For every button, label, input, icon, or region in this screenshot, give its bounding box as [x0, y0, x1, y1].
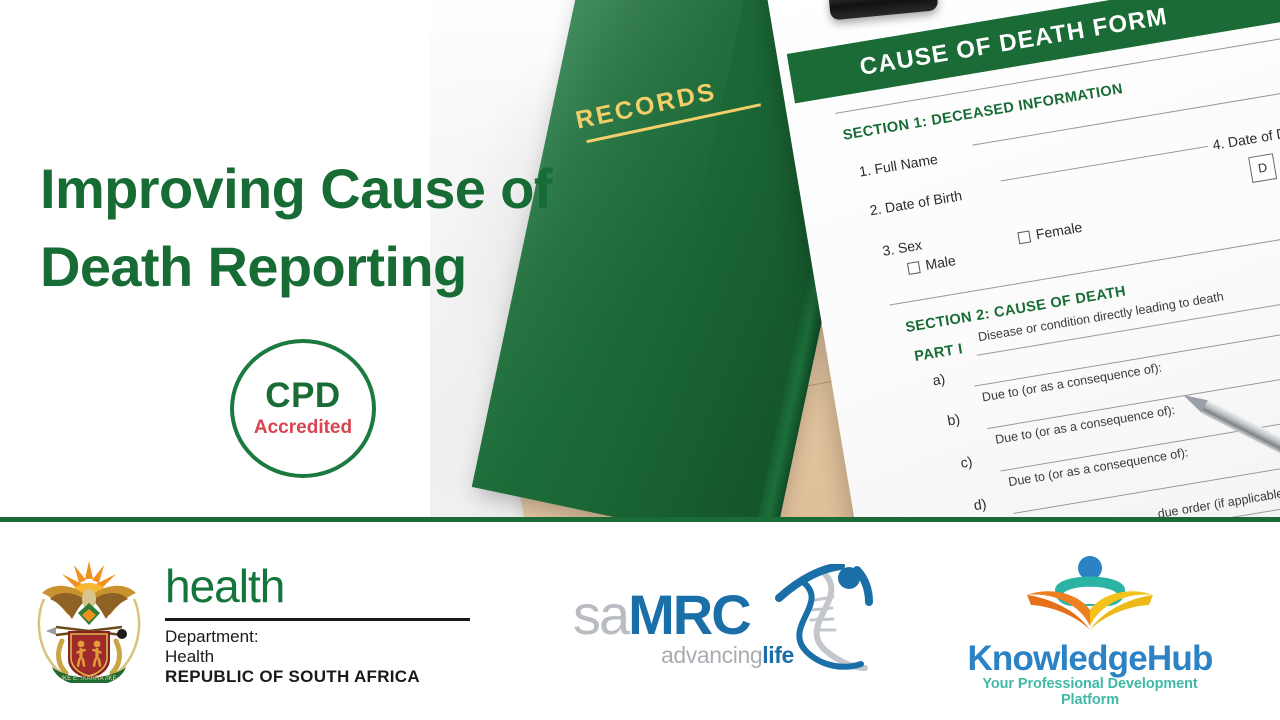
form-consequence-c: Due to (or as a consequence of):	[994, 403, 1176, 447]
form-field-date-of-death: 4. Date of Death	[1211, 120, 1280, 153]
cpd-badge-title: CPD	[265, 377, 340, 415]
label-male: Male	[924, 252, 957, 273]
title-line-2: Death Reporting	[40, 228, 620, 306]
samrc-prefix: sa	[573, 583, 628, 646]
checkbox-male[interactable]	[907, 261, 921, 275]
form-field-date-of-birth: 2. Date of Birth	[868, 187, 963, 218]
footer-logo-bar: !KE E: /XARRA //KE health Department: He…	[0, 522, 1280, 720]
south-africa-coat-of-arms-icon: !KE E: /XARRA //KE	[30, 555, 148, 683]
checkbox-female[interactable]	[1017, 230, 1031, 244]
sa-department-of-health-logo: !KE E: /XARRA //KE health Department: He…	[30, 555, 450, 685]
gov-logo-line-1: Department:	[165, 627, 259, 647]
form-section1-heading: SECTION 1: DECEASED INFORMATION	[842, 81, 1124, 144]
date-box-d1[interactable]: D	[1248, 153, 1277, 183]
cpd-accredited-badge: CPD Accredited	[230, 339, 376, 478]
samrc-wordmark: saMRC	[573, 586, 750, 644]
form-field-full-name: 1. Full Name	[858, 151, 939, 180]
samrc-tagline-part-2: life	[762, 642, 794, 668]
form-part1-label: PART I	[913, 341, 964, 365]
form-row-b: b)	[946, 411, 961, 429]
cause-of-death-form: CAUSE OF DEATH FORM SECTION 1: DECEASED …	[764, 0, 1280, 520]
clipboard-clip	[828, 0, 938, 20]
presentation-slide: RECORDS CAUSE OF DEATH FORM SECTION 1: D…	[0, 0, 1280, 720]
health-wordmark: health	[165, 561, 284, 611]
svg-text:!KE E: /XARRA //KE: !KE E: /XARRA //KE	[61, 675, 116, 682]
form-consequence-d: Due to (or as a consequence of):	[1007, 445, 1189, 489]
form-rule-date-of-birth	[1001, 146, 1208, 182]
samrc-logo: saMRC advancinglife	[565, 564, 895, 684]
samrc-acronym: MRC	[628, 583, 750, 646]
title-line-1: Improving Cause of	[40, 150, 620, 228]
page-title: Improving Cause of Death Reporting	[40, 150, 620, 306]
form-row-d: d)	[973, 495, 988, 513]
label-female: Female	[1035, 219, 1084, 242]
samrc-tagline-part-1: advancing	[661, 642, 762, 668]
health-logo-rule	[165, 618, 470, 621]
samrc-tagline: advancinglife	[661, 642, 794, 669]
cpd-badge-subtitle: Accredited	[254, 416, 352, 440]
form-title: CAUSE OF DEATH FORM	[858, 3, 1170, 82]
gov-logo-line-3: REPUBLIC OF SOUTH AFRICA	[165, 667, 420, 687]
form-field-sex: 3. Sex	[881, 236, 923, 258]
form-row-a: a)	[931, 371, 946, 389]
knowledgehub-tagline: Your Professional Development Platform	[955, 676, 1225, 708]
gov-logo-line-2: Health	[165, 647, 214, 667]
knowledgehub-logo: KnowledgeHub Your Professional Developme…	[955, 550, 1225, 695]
form-row-c: c)	[959, 453, 973, 471]
knowledgehub-wordmark: KnowledgeHub	[955, 640, 1225, 678]
form-consequence-b: Due to (or as a consequence of):	[981, 361, 1163, 405]
knowledgehub-open-book-person-icon	[955, 550, 1225, 640]
form-part2-fragment: due order (if applicable)	[1157, 486, 1280, 520]
